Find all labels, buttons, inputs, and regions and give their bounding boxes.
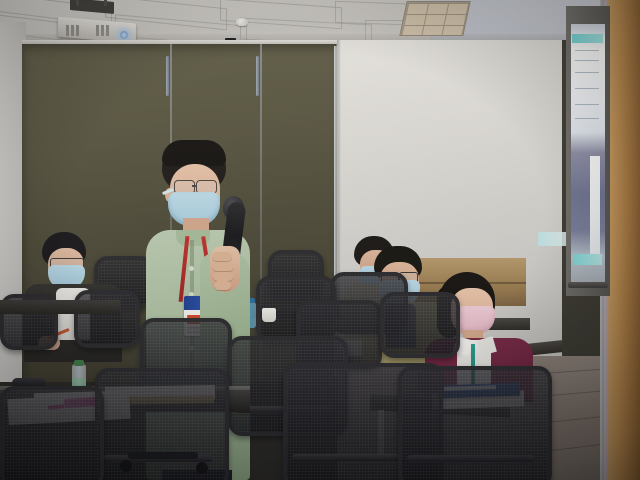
chair-wheel <box>196 462 208 474</box>
office-chair-foreground[interactable] <box>0 386 96 480</box>
bottle-cap <box>74 360 84 366</box>
ceiling-projector <box>58 14 136 40</box>
projection-screen <box>566 6 610 296</box>
projected-light-patch <box>538 232 566 246</box>
projector-vent <box>96 25 99 36</box>
slide-white-panel <box>590 156 600 256</box>
bottle-label <box>72 378 86 386</box>
blind-pull-rod[interactable] <box>166 56 169 96</box>
office-chair-foreground[interactable] <box>398 366 544 480</box>
blind-pull-rod[interactable] <box>256 56 259 96</box>
office-chair[interactable] <box>380 292 452 350</box>
ceiling-light-fixture <box>399 1 470 36</box>
smoke-detector-icon <box>236 18 248 26</box>
hand <box>210 246 240 292</box>
projector-vent <box>66 25 69 36</box>
glasses-bridge <box>192 185 197 187</box>
projector-vent <box>106 25 109 36</box>
chair-base <box>128 452 198 459</box>
projector-vent <box>71 25 74 36</box>
slide-header-bar <box>572 34 603 43</box>
conference-room-scene <box>0 0 640 480</box>
office-chair[interactable] <box>74 290 132 340</box>
projector-vent <box>76 25 79 36</box>
paper-cup[interactable] <box>262 308 276 322</box>
projection-screen-bottom-bar <box>568 282 608 288</box>
projector-vent <box>101 25 104 36</box>
shirt-button <box>189 266 194 271</box>
projector-mount-arm <box>76 0 79 6</box>
slide-footer-bar <box>573 254 602 265</box>
left-table <box>0 300 120 314</box>
projector-mount-arm <box>104 0 107 6</box>
projector-lens-icon <box>120 31 128 39</box>
chair-wheel <box>120 460 132 472</box>
hair-fringe <box>162 140 226 166</box>
